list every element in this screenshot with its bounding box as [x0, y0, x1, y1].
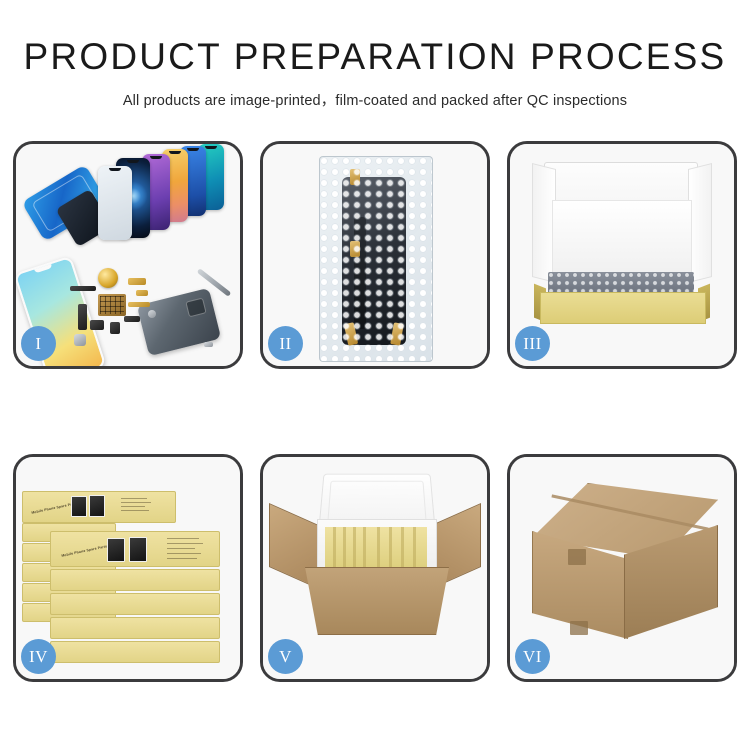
notch-icon — [109, 168, 121, 171]
step-badge-4: IV — [21, 639, 56, 674]
step-badge-3: III — [515, 326, 550, 361]
vibration-motor-part — [98, 268, 118, 288]
stacked-box-top-front: Mobile Phone Spare Parts — [50, 531, 220, 567]
box-label-screen-image — [71, 496, 87, 517]
page-header: PRODUCT PREPARATION PROCESS All products… — [0, 0, 750, 110]
carton-tape-patch — [568, 549, 586, 565]
carton-front-panel — [297, 567, 457, 635]
process-step-2[interactable]: II — [260, 141, 490, 369]
speaker-part — [110, 322, 120, 334]
notch-icon — [169, 151, 181, 154]
flex-connector-part — [128, 278, 146, 285]
box-label-text: Mobile Phone Spare Parts — [61, 544, 107, 558]
ribbon-cable-part — [128, 302, 150, 307]
box-label-screen-image — [129, 537, 147, 562]
notch-icon — [150, 156, 162, 159]
notch-icon — [187, 148, 199, 151]
screw-part — [204, 342, 213, 347]
carton-tape-patch — [570, 621, 588, 635]
stacked-box — [50, 593, 220, 615]
antenna-strip-part — [124, 316, 140, 322]
sim-tray-part — [74, 334, 86, 346]
flex-cable-part — [78, 304, 87, 330]
box-label-screen-image — [107, 538, 125, 562]
step-badge-1: I — [21, 326, 56, 361]
step-badge-5: V — [268, 639, 303, 674]
stacked-box — [50, 617, 220, 639]
page-title: PRODUCT PREPARATION PROCESS — [0, 38, 750, 75]
bubble-texture-overlay — [320, 157, 432, 361]
box-front-panel — [540, 292, 706, 324]
box-label-screen-image — [89, 495, 105, 517]
chip-array-part — [98, 294, 126, 316]
camera-module-part — [90, 320, 104, 330]
inner-boxes-row — [325, 527, 427, 567]
white-foam-sheet — [552, 200, 692, 276]
stacked-box-top-back: Mobile Phone Spare Parts — [22, 491, 176, 523]
process-step-6[interactable]: VI — [507, 454, 737, 682]
bubble-padding-layer — [548, 272, 694, 294]
notch-icon — [127, 160, 139, 163]
process-step-1[interactable]: I — [13, 141, 243, 369]
process-step-5[interactable]: V — [260, 454, 490, 682]
notch-icon — [205, 146, 217, 149]
earpiece-mesh-part — [70, 286, 96, 291]
process-step-4[interactable]: Mobile Phone Spare Parts Mobile Phone Sp… — [13, 454, 243, 682]
step-badge-2: II — [268, 326, 303, 361]
stacked-box — [50, 641, 220, 663]
phone-screen-glass — [98, 166, 132, 240]
process-step-3[interactable]: III — [507, 141, 737, 369]
step-badge-6: VI — [515, 639, 550, 674]
screw-part — [148, 310, 156, 318]
page-subtitle: All products are image-printed，film-coat… — [0, 89, 750, 110]
stacked-box — [50, 569, 220, 591]
process-step-grid: I II — [13, 141, 737, 682]
gold-contact-part — [136, 290, 148, 296]
bubble-wrap-bag — [319, 156, 433, 362]
